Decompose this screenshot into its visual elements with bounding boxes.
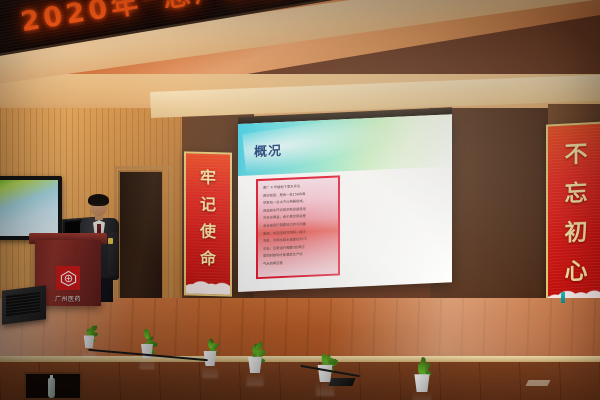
banner-character: 牢 bbox=[200, 164, 216, 188]
plant-reflection bbox=[246, 372, 263, 386]
plant-leaf bbox=[208, 340, 212, 347]
banner-character: 使 bbox=[200, 218, 216, 242]
banner-character: 记 bbox=[200, 191, 216, 215]
banner-left-characters: 牢记使命 bbox=[186, 163, 230, 269]
banner-left-cloud-pattern bbox=[186, 269, 230, 294]
wall-monitor-screen bbox=[0, 180, 58, 236]
plant-reflection bbox=[140, 357, 155, 369]
organization-logo-icon bbox=[56, 266, 80, 290]
banner-character: 初 bbox=[565, 212, 588, 247]
side-door[interactable] bbox=[118, 170, 162, 300]
glasses-icon bbox=[90, 204, 107, 209]
potted-plant bbox=[76, 312, 103, 348]
podium-label: 广州医药 bbox=[55, 294, 81, 303]
projection-screen: 概况 原厂 4 号楼地下室水环式真空泵组，是由一台15KW真空泵和一台水汽分离器… bbox=[238, 114, 452, 292]
slide-text-box: 原厂 4 号楼地下室水环式真空泵组，是由一台15KW真空泵和一台水汽分离器组成。… bbox=[256, 175, 340, 279]
potted-plant bbox=[238, 326, 273, 373]
banner-character: 不 bbox=[565, 134, 588, 169]
presentation-slide: 概况 原厂 4 号楼地下室水环式真空泵组，是由一台15KW真空泵和一台水汽分离器… bbox=[238, 114, 452, 292]
speaker-badge bbox=[108, 238, 113, 244]
slide-title: 概况 bbox=[254, 140, 282, 160]
banner-character: 忘 bbox=[565, 173, 588, 208]
banner-left-slogan: 牢记使命 bbox=[184, 151, 232, 296]
potted-plant bbox=[307, 332, 344, 382]
water-bottle bbox=[48, 378, 55, 398]
plant-reflection bbox=[412, 391, 431, 400]
plant-pot bbox=[412, 374, 431, 392]
banner-right-characters: 不忘初心 bbox=[548, 134, 600, 288]
teal-floor-marker bbox=[561, 292, 565, 303]
floor-paper-card bbox=[526, 380, 551, 386]
plant-pot bbox=[246, 357, 263, 373]
potted-plant bbox=[403, 340, 441, 392]
wall-monitor bbox=[0, 176, 62, 240]
potted-plant bbox=[132, 318, 162, 358]
banner-character: 命 bbox=[200, 245, 216, 269]
conference-hall-photo: 2020年“总厂工匠杯”劳动竞赛总结表彰大会 概况 原厂 4 号楼地下室水环式真… bbox=[0, 0, 600, 400]
plant-reflection bbox=[202, 365, 218, 378]
stage-monitor-speaker bbox=[2, 285, 46, 324]
floor-tablet-device bbox=[328, 378, 355, 386]
banner-right-slogan: 不忘初心 bbox=[546, 121, 600, 306]
stage-front-panel bbox=[0, 362, 600, 400]
plant-leaf bbox=[144, 329, 150, 339]
banner-character: 心 bbox=[565, 251, 588, 286]
